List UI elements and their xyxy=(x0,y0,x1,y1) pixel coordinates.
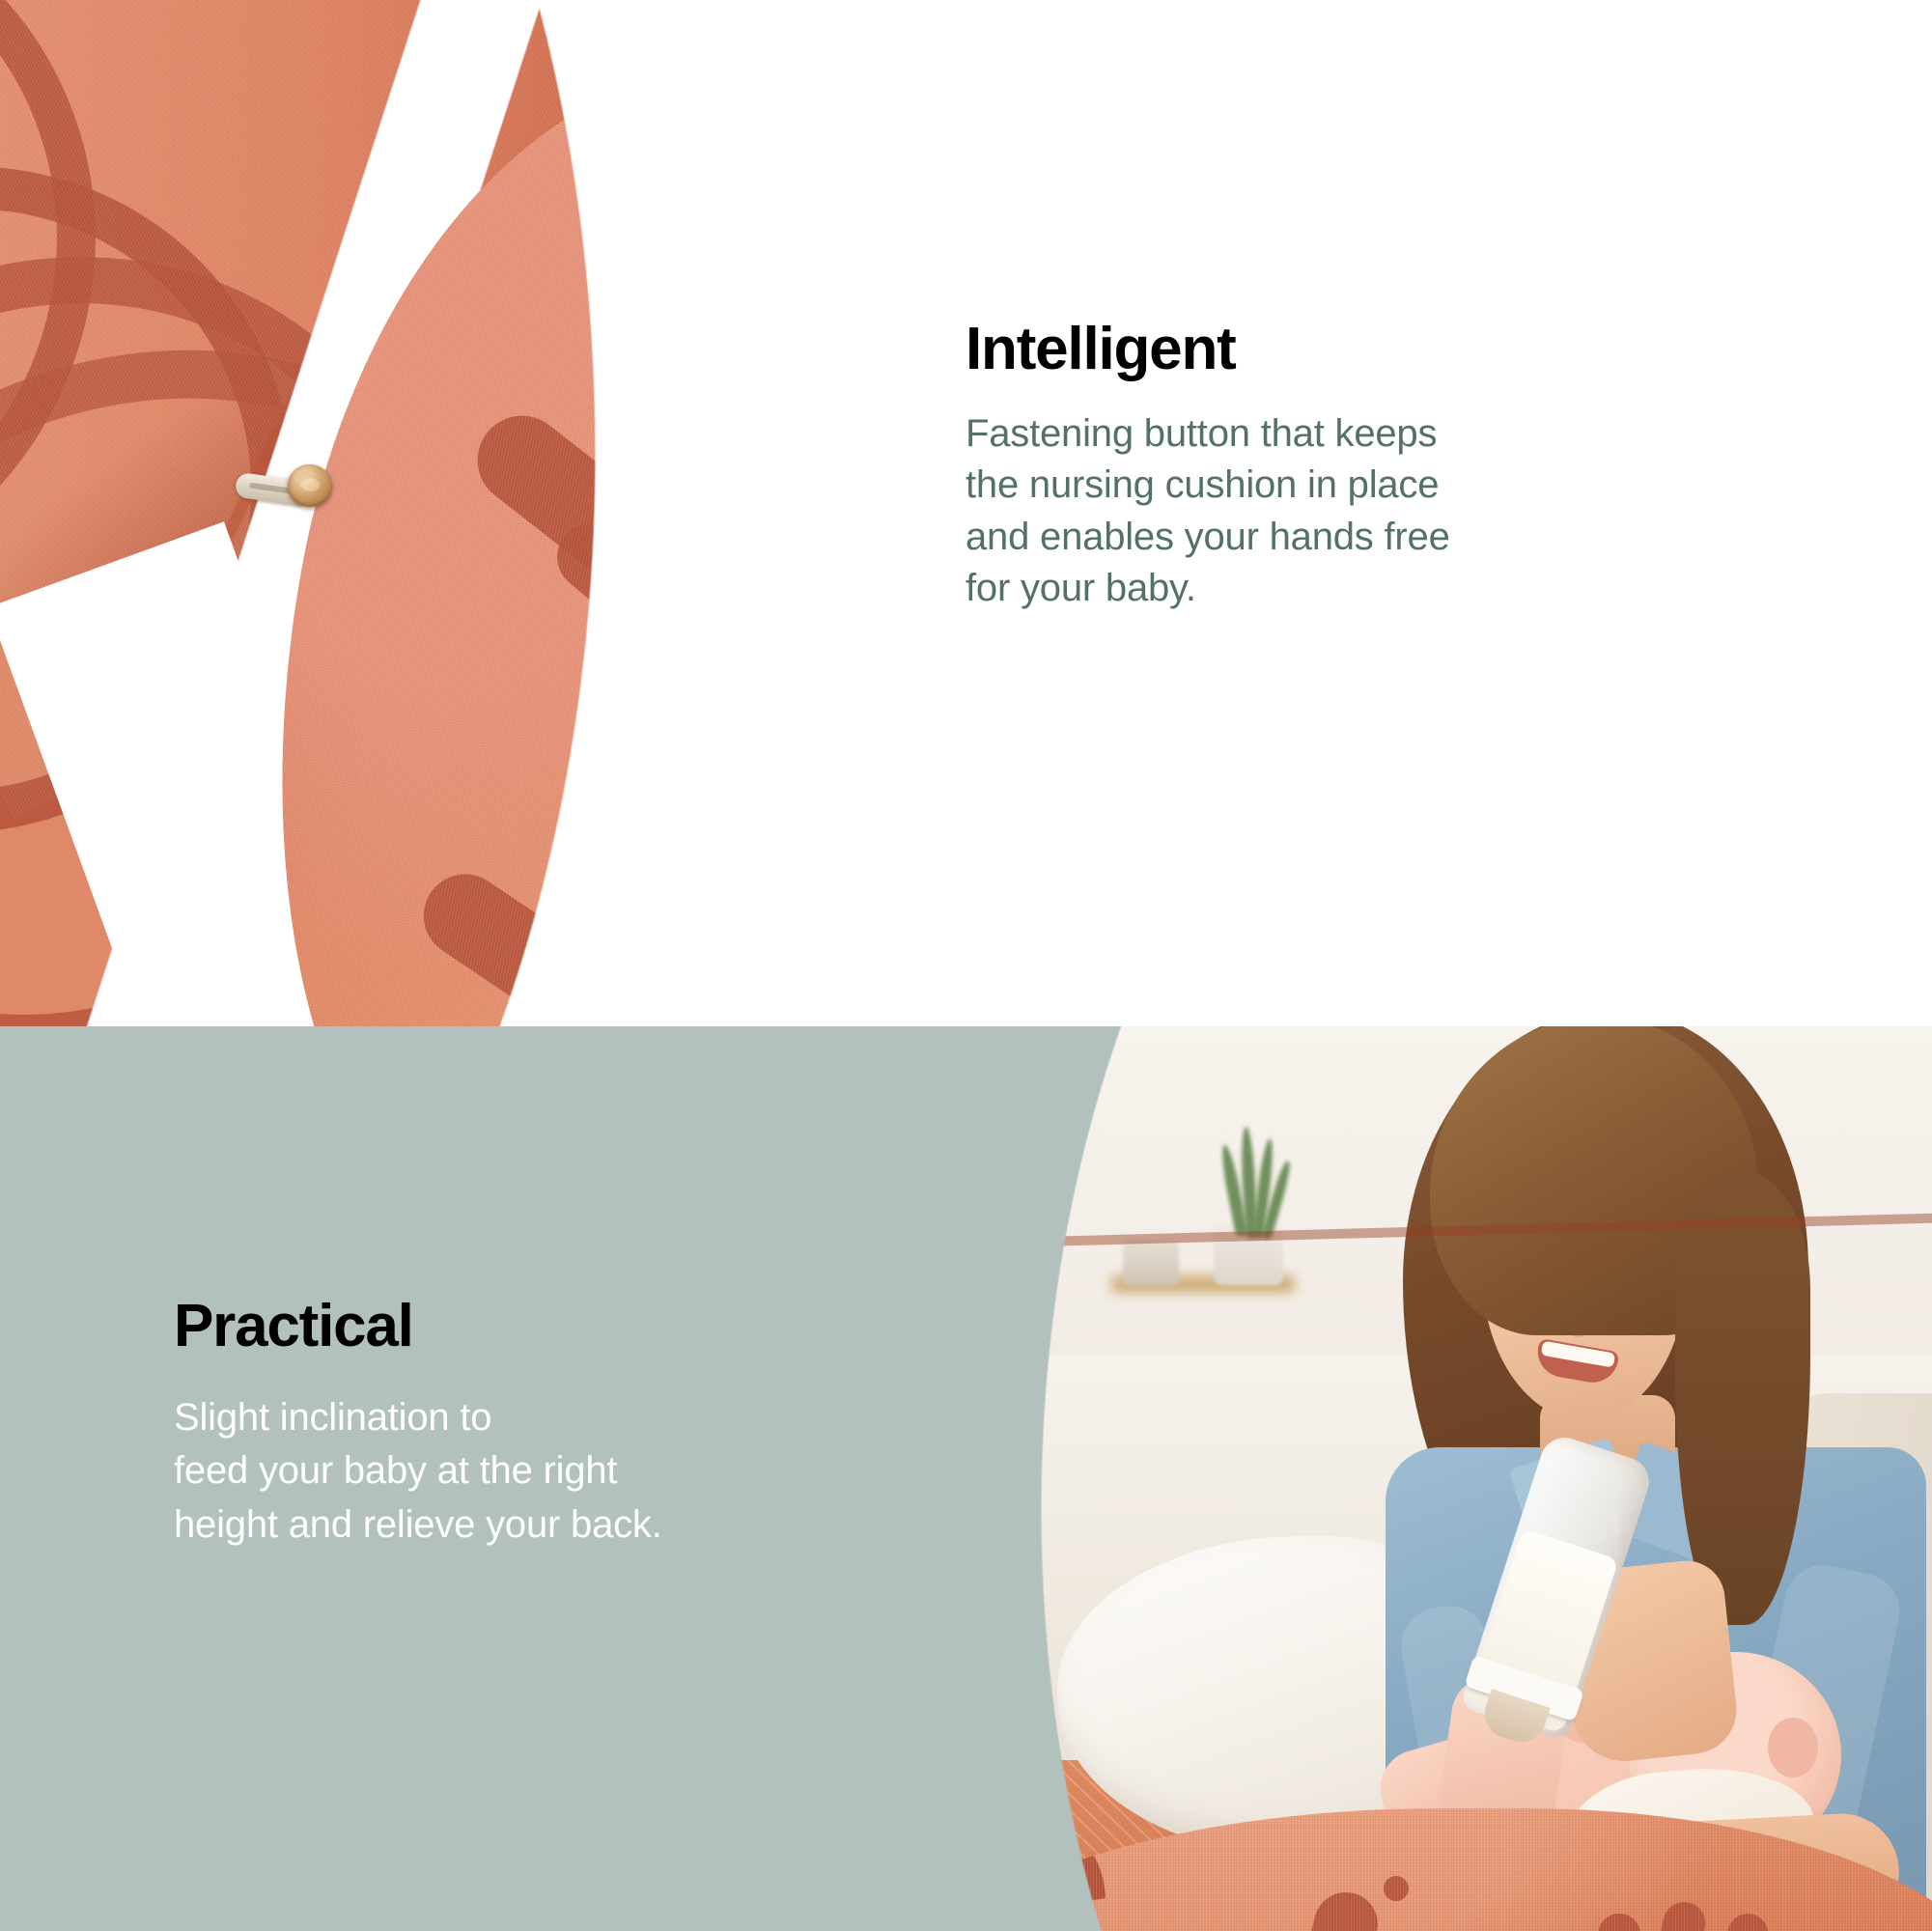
arch-motif-icon xyxy=(1638,1898,1709,1931)
practical-text-block: Practical Slight inclination to feed you… xyxy=(174,1296,908,1552)
arch-motif-icon xyxy=(1292,1886,1385,1931)
body-line: the nursing cushion in place xyxy=(966,460,1699,511)
body-line: Slight inclination to xyxy=(174,1391,908,1444)
arch-motif-icon xyxy=(621,147,850,397)
body-line: height and relieve your back. xyxy=(174,1498,908,1552)
arch-motif-icon xyxy=(558,766,657,901)
baby-ear xyxy=(1768,1718,1818,1777)
decor-jar xyxy=(1123,1241,1179,1285)
body-line: Fastening button that keeps xyxy=(966,408,1699,460)
body-line: feed your baby at the right xyxy=(174,1444,908,1497)
body-line: and enables your hands free xyxy=(966,512,1699,563)
body-line: for your baby. xyxy=(966,563,1699,614)
page-title: Practical xyxy=(174,1296,908,1357)
practical-body-text: Slight inclination to feed your baby at … xyxy=(174,1391,908,1552)
arch-motif-icon xyxy=(1575,1910,1644,1931)
section-intelligent: Intelligent Fastening button that keeps … xyxy=(0,0,1932,1026)
section-practical: Practical Slight inclination to feed you… xyxy=(0,1026,1932,1931)
nursing-cushion-button-detail-image xyxy=(0,0,850,1026)
mother-feeding-baby-image xyxy=(999,1026,1932,1931)
arch-motif-icon xyxy=(1704,1910,1772,1931)
intelligent-body-text: Fastening button that keeps the nursing … xyxy=(966,408,1699,614)
page-title: Intelligent xyxy=(966,319,1699,379)
intelligent-text-block: Intelligent Fastening button that keeps … xyxy=(966,319,1699,614)
dot-motif-icon xyxy=(1384,1876,1409,1901)
